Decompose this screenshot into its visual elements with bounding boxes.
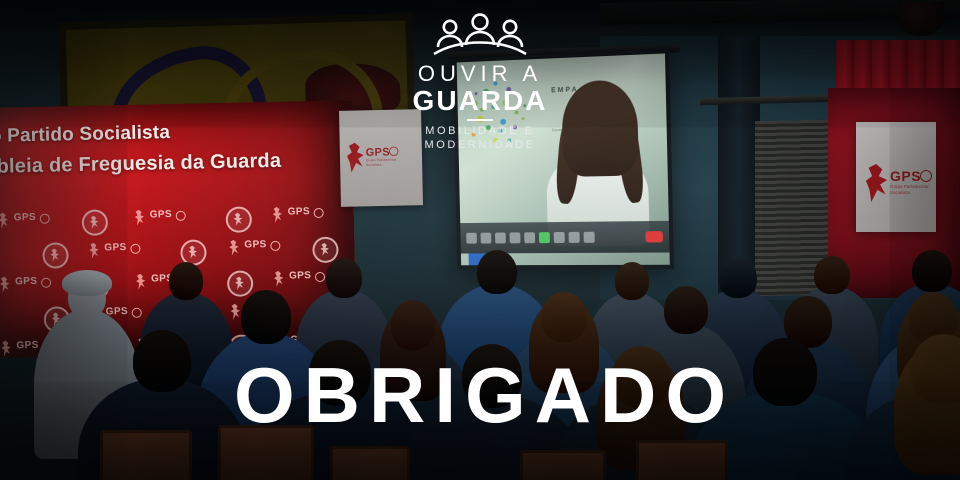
screenshot-root: do Partido Socialista mbleia de Freguesi… xyxy=(0,0,960,480)
chair xyxy=(330,446,410,480)
chair xyxy=(218,425,314,480)
chair xyxy=(636,440,728,480)
chair xyxy=(100,430,192,480)
chair-row xyxy=(0,0,960,480)
chair xyxy=(520,450,606,480)
